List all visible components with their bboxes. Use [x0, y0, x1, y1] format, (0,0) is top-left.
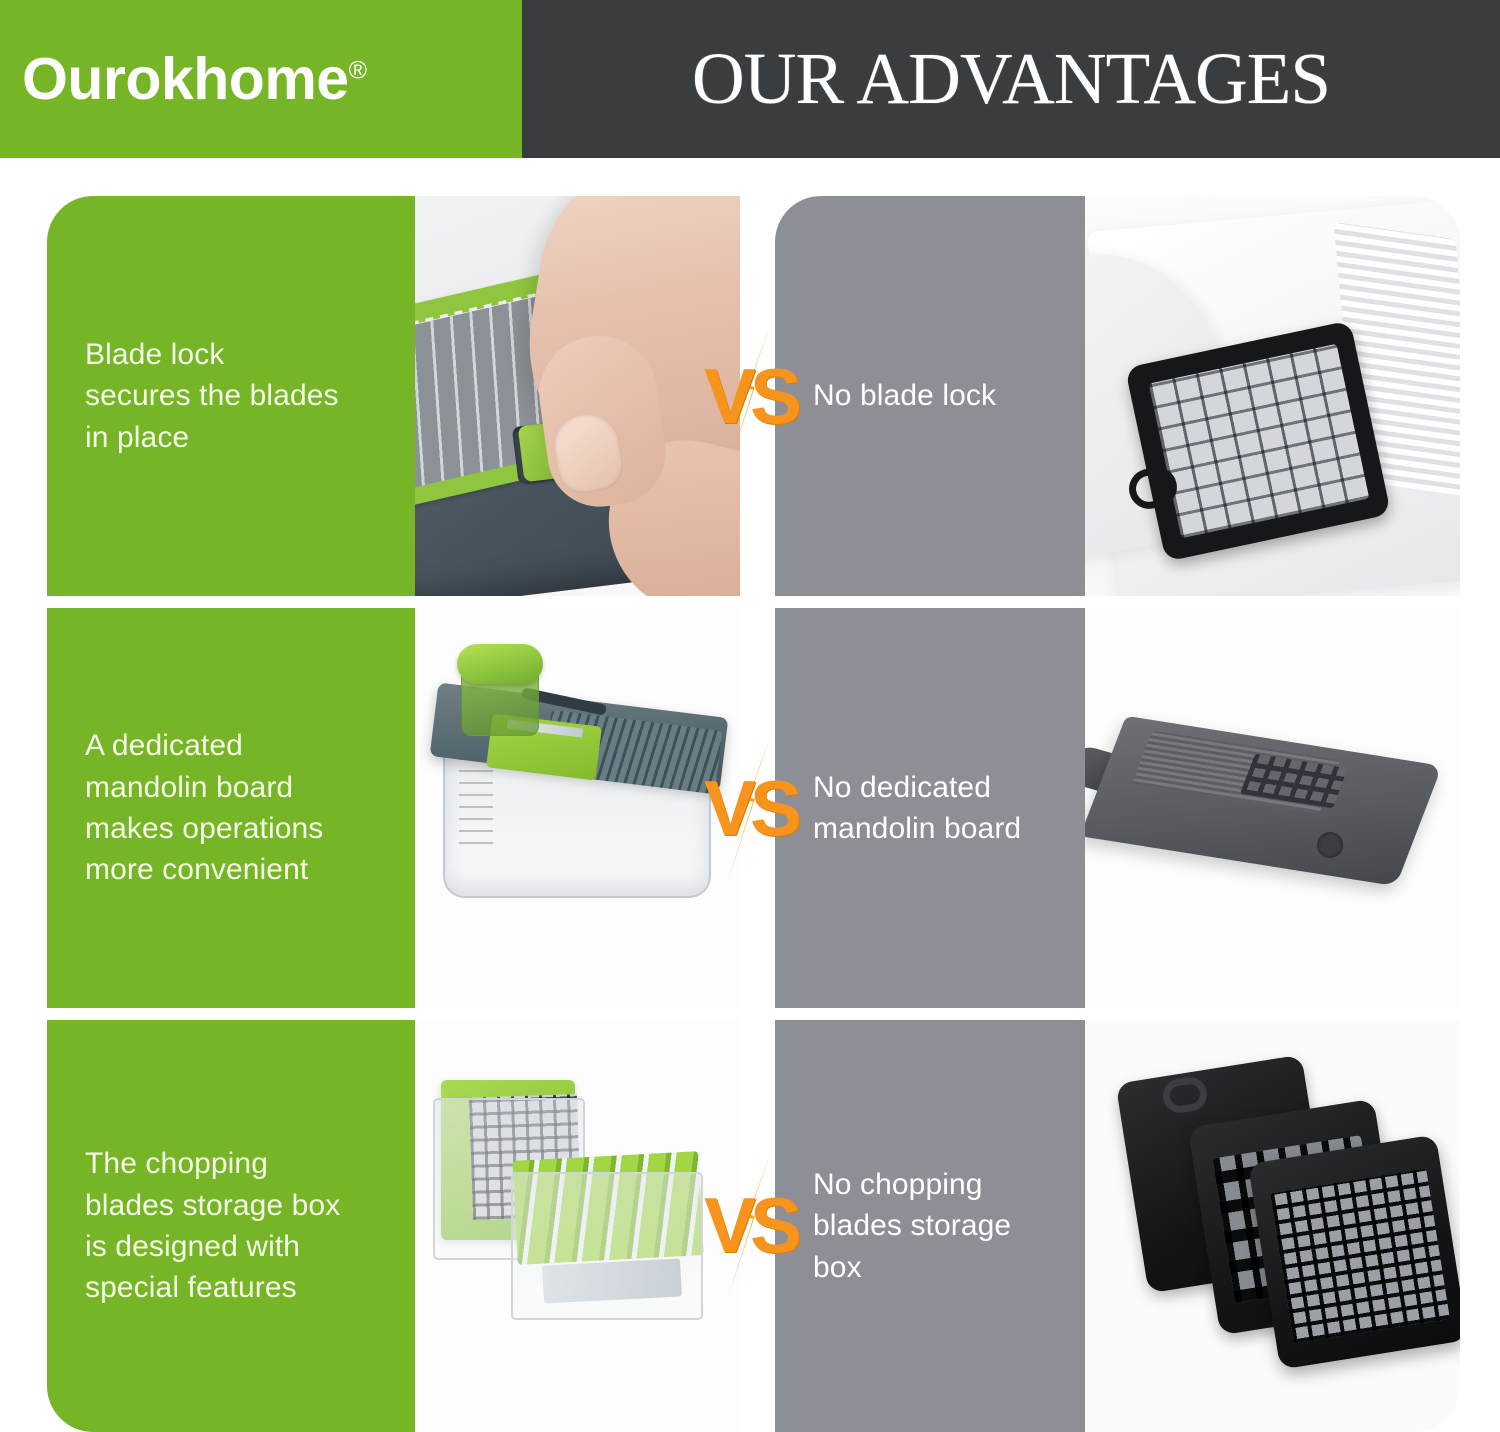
drawback-text-panel: No chopping blades storage box — [775, 1020, 1085, 1432]
drawback-side: No blade lock — [775, 196, 1460, 596]
advantage-photo — [415, 1020, 740, 1432]
advantage-label: A dedicated mandolin board makes operati… — [85, 725, 323, 891]
green-food-holder-icon — [457, 644, 543, 684]
mandolin-board-illustration — [415, 608, 740, 1008]
advantage-text-panel: The chopping blades storage box is desig… — [47, 1020, 415, 1432]
drawback-photo — [1085, 608, 1460, 1008]
drawback-label: No dedicated mandolin board — [813, 767, 1021, 850]
drawback-text-panel: No blade lock — [775, 196, 1085, 596]
brand-block: Ourokhome® — [0, 0, 522, 158]
brand-logo: Ourokhome® — [22, 50, 367, 109]
chopper-with-blade-lock-illustration — [415, 196, 740, 596]
advantage-label: Blade lock secures the blades in place — [85, 334, 339, 458]
drawback-photo — [1085, 196, 1460, 596]
advantage-photo — [415, 608, 740, 1008]
advantage-side: A dedicated mandolin board makes operati… — [47, 608, 740, 1008]
brand-name: Ourokhome — [22, 46, 349, 112]
drawback-side: No chopping blades storage box — [775, 1020, 1460, 1432]
page-title: OUR ADVANTAGES — [692, 37, 1330, 121]
plain-gray-slicer-illustration — [1085, 608, 1460, 1008]
comparison-row: The chopping blades storage box is desig… — [0, 1020, 1500, 1432]
advantage-side: Blade lock secures the blades in place — [47, 196, 740, 596]
comparison-row: Blade lock secures the blades in place — [0, 196, 1500, 596]
drawback-label: No blade lock — [813, 375, 996, 416]
blade-storage-box-illustration — [415, 1020, 740, 1432]
registered-trademark-icon: ® — [349, 56, 367, 84]
drawback-text-panel: No dedicated mandolin board — [775, 608, 1085, 1008]
advantage-text-panel: A dedicated mandolin board makes operati… — [47, 608, 415, 1008]
comparison-row: A dedicated mandolin board makes operati… — [0, 608, 1500, 1008]
loose-black-blades-illustration — [1085, 1020, 1460, 1432]
page-header: Ourokhome® OUR ADVANTAGES — [0, 0, 1500, 158]
drawback-photo — [1085, 1020, 1460, 1432]
advantage-side: The chopping blades storage box is desig… — [47, 1020, 740, 1432]
white-chopper-no-blade-lock-illustration — [1085, 196, 1460, 596]
drawback-side: No dedicated mandolin board — [775, 608, 1460, 1008]
title-block: OUR ADVANTAGES — [522, 0, 1500, 158]
comparison-grid: Blade lock secures the blades in place — [0, 158, 1500, 1432]
advantage-label: The chopping blades storage box is desig… — [85, 1143, 340, 1309]
drawback-label: No chopping blades storage box — [813, 1164, 1011, 1288]
advantage-photo — [415, 196, 740, 596]
advantage-text-panel: Blade lock secures the blades in place — [47, 196, 415, 596]
